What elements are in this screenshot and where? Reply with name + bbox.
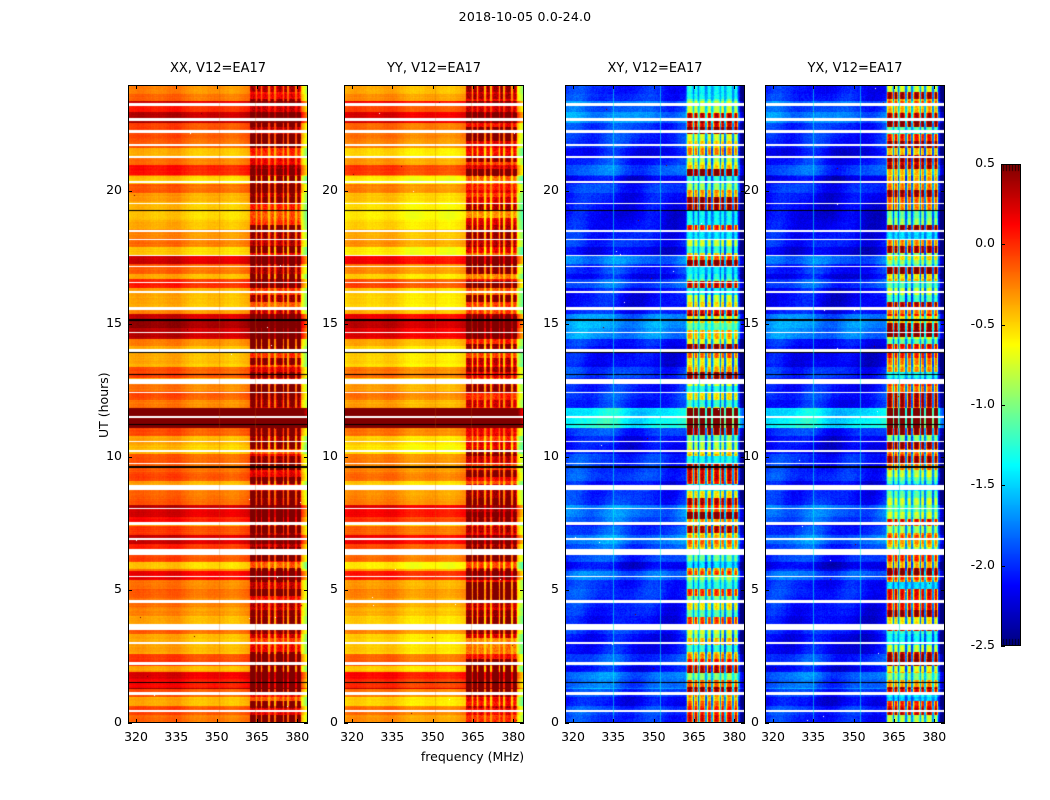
x-tick bbox=[136, 85, 137, 89]
colorbar-tick bbox=[1001, 646, 1005, 647]
panel-title-xy: XY, V12=EA17 bbox=[565, 61, 745, 76]
panel-yx[interactable]: YX, V12=EA17 bbox=[765, 85, 945, 723]
x-tick-label: 320 bbox=[551, 729, 595, 744]
y-tick-label: 20 bbox=[519, 182, 559, 197]
x-axis-label: frequency (MHz) bbox=[0, 749, 945, 764]
x-tick bbox=[613, 719, 614, 723]
y-tick bbox=[344, 324, 348, 325]
y-tick bbox=[765, 590, 769, 591]
figure-canvas: 2018-10-05 0.0-24.0 XX, V12=EA17YY, V12=… bbox=[0, 0, 1050, 800]
x-tick bbox=[813, 85, 814, 89]
y-tick bbox=[941, 457, 945, 458]
y-tick bbox=[128, 457, 132, 458]
y-tick bbox=[941, 723, 945, 724]
x-tick bbox=[773, 719, 774, 723]
y-tick bbox=[765, 324, 769, 325]
y-tick-label: 5 bbox=[82, 581, 122, 596]
colorbar-tick-label: -0.5 bbox=[953, 316, 995, 331]
colorbar-tick bbox=[1001, 405, 1005, 406]
y-tick-label: 0 bbox=[519, 714, 559, 729]
colorbar-tick bbox=[1001, 485, 1005, 486]
x-tick bbox=[694, 85, 695, 89]
x-tick bbox=[473, 85, 474, 89]
x-tick bbox=[392, 719, 393, 723]
x-tick-label: 365 bbox=[672, 729, 716, 744]
y-tick-label: 5 bbox=[298, 581, 338, 596]
x-tick bbox=[513, 719, 514, 723]
y-tick-label: 20 bbox=[719, 182, 759, 197]
x-tick-label: 320 bbox=[330, 729, 374, 744]
x-tick-label: 320 bbox=[114, 729, 158, 744]
panel-title-yx: YX, V12=EA17 bbox=[765, 61, 945, 76]
x-tick-label: 335 bbox=[791, 729, 835, 744]
colorbar-tick bbox=[1001, 325, 1005, 326]
x-tick bbox=[854, 719, 855, 723]
y-tick bbox=[565, 590, 569, 591]
x-tick-label: 335 bbox=[154, 729, 198, 744]
x-tick-label: 320 bbox=[751, 729, 795, 744]
y-tick-label: 5 bbox=[519, 581, 559, 596]
waterfall-image-yx bbox=[765, 85, 945, 723]
colorbar-tick-label: -2.0 bbox=[953, 557, 995, 572]
panel-title-yy: YY, V12=EA17 bbox=[344, 61, 524, 76]
y-tick bbox=[941, 324, 945, 325]
x-tick-label: 350 bbox=[632, 729, 676, 744]
x-tick bbox=[176, 85, 177, 89]
x-tick-label: 350 bbox=[832, 729, 876, 744]
x-tick-label: 380 bbox=[912, 729, 956, 744]
x-tick bbox=[257, 85, 258, 89]
x-tick bbox=[654, 85, 655, 89]
y-tick bbox=[344, 191, 348, 192]
y-tick-label: 0 bbox=[298, 714, 338, 729]
y-tick bbox=[765, 191, 769, 192]
y-tick bbox=[565, 324, 569, 325]
x-tick bbox=[136, 719, 137, 723]
x-tick bbox=[894, 719, 895, 723]
x-tick bbox=[433, 719, 434, 723]
x-tick-label: 365 bbox=[451, 729, 495, 744]
y-tick bbox=[128, 723, 132, 724]
x-tick bbox=[433, 85, 434, 89]
panel-yy[interactable]: YY, V12=EA17 bbox=[344, 85, 524, 723]
colorbar-tick bbox=[1001, 566, 1005, 567]
x-tick bbox=[894, 85, 895, 89]
x-tick bbox=[654, 719, 655, 723]
y-tick bbox=[565, 457, 569, 458]
x-tick-label: 335 bbox=[591, 729, 635, 744]
y-tick bbox=[941, 191, 945, 192]
colorbar-tick-label: -1.0 bbox=[953, 396, 995, 411]
x-tick bbox=[352, 85, 353, 89]
x-tick bbox=[217, 85, 218, 89]
panel-title-xx: XX, V12=EA17 bbox=[128, 61, 308, 76]
x-tick bbox=[613, 85, 614, 89]
y-tick bbox=[941, 590, 945, 591]
y-tick-label: 15 bbox=[519, 315, 559, 330]
x-tick-label: 365 bbox=[235, 729, 279, 744]
figure-suptitle: 2018-10-05 0.0-24.0 bbox=[0, 9, 1050, 24]
y-tick bbox=[128, 324, 132, 325]
y-tick-label: 0 bbox=[719, 714, 759, 729]
x-tick bbox=[257, 719, 258, 723]
x-tick-label: 380 bbox=[491, 729, 535, 744]
y-axis-label: UT (hours) bbox=[96, 372, 111, 438]
x-tick bbox=[813, 719, 814, 723]
y-tick bbox=[765, 457, 769, 458]
y-tick-label: 0 bbox=[82, 714, 122, 729]
x-tick-label: 350 bbox=[195, 729, 239, 744]
x-tick bbox=[392, 85, 393, 89]
y-tick-label: 10 bbox=[719, 448, 759, 463]
x-tick bbox=[934, 85, 935, 89]
y-tick-label: 10 bbox=[298, 448, 338, 463]
y-tick-label: 20 bbox=[82, 182, 122, 197]
waterfall-image-xx bbox=[128, 85, 308, 723]
panel-xy[interactable]: XY, V12=EA17 bbox=[565, 85, 745, 723]
x-tick bbox=[297, 85, 298, 89]
x-tick-label: 350 bbox=[411, 729, 455, 744]
waterfall-image-yy bbox=[344, 85, 524, 723]
y-tick bbox=[128, 191, 132, 192]
y-tick-label: 15 bbox=[82, 315, 122, 330]
y-tick bbox=[128, 590, 132, 591]
y-tick bbox=[565, 191, 569, 192]
x-tick bbox=[176, 719, 177, 723]
x-tick bbox=[352, 719, 353, 723]
y-tick bbox=[765, 723, 769, 724]
colorbar-tick-label: 0.5 bbox=[953, 155, 995, 170]
y-tick-label: 10 bbox=[519, 448, 559, 463]
y-tick bbox=[344, 457, 348, 458]
x-tick bbox=[513, 85, 514, 89]
y-tick-label: 15 bbox=[298, 315, 338, 330]
x-tick-label: 380 bbox=[275, 729, 319, 744]
panel-xx[interactable]: XX, V12=EA17 bbox=[128, 85, 308, 723]
colorbar-tick bbox=[1001, 244, 1005, 245]
x-tick bbox=[573, 85, 574, 89]
x-tick bbox=[934, 719, 935, 723]
colorbar-tick-label: -2.5 bbox=[953, 637, 995, 652]
colorbar-tick-label: -1.5 bbox=[953, 476, 995, 491]
y-tick bbox=[344, 723, 348, 724]
y-tick-label: 5 bbox=[719, 581, 759, 596]
x-tick-label: 380 bbox=[712, 729, 756, 744]
waterfall-image-xy bbox=[565, 85, 745, 723]
x-tick bbox=[773, 85, 774, 89]
x-tick bbox=[734, 85, 735, 89]
x-tick-label: 365 bbox=[872, 729, 916, 744]
y-tick-label: 10 bbox=[82, 448, 122, 463]
colorbar-tick-label: 0.0 bbox=[953, 235, 995, 250]
y-tick-label: 15 bbox=[719, 315, 759, 330]
x-tick bbox=[217, 719, 218, 723]
x-tick bbox=[573, 719, 574, 723]
x-tick-label: 335 bbox=[370, 729, 414, 744]
colorbar-tick bbox=[1001, 164, 1005, 165]
x-tick bbox=[694, 719, 695, 723]
y-tick bbox=[565, 723, 569, 724]
y-tick bbox=[344, 590, 348, 591]
x-tick bbox=[854, 85, 855, 89]
y-tick-label: 20 bbox=[298, 182, 338, 197]
x-tick bbox=[473, 719, 474, 723]
